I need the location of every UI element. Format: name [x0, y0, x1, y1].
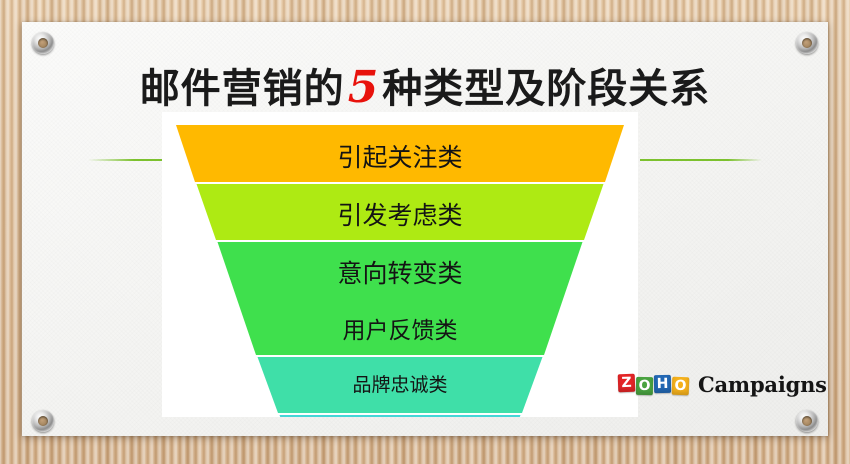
zoho-letter-o2: O	[672, 376, 690, 395]
grommet-bottom-right-icon	[796, 410, 818, 432]
funnel-segment-4	[258, 357, 543, 413]
grommet-top-right-icon	[796, 32, 818, 54]
page-title: 邮件营销的5种类型及阶段关系	[0, 56, 850, 114]
zoho-campaigns-logo: Z O H O Campaigns	[618, 372, 827, 397]
funnel-segment-1	[176, 125, 624, 182]
slide-canvas: 邮件营销的5种类型及阶段关系 引起关注类 引发考虑类 意向转变类 用户反馈类 品…	[0, 0, 850, 464]
title-suffix: 种类型及阶段关系	[382, 66, 710, 112]
title-accent-number: 5	[345, 62, 383, 113]
funnel-chart: 引起关注类 引发考虑类 意向转变类 用户反馈类 品牌忠诚类	[162, 112, 638, 417]
funnel-segment-3	[218, 242, 583, 355]
zoho-letter-h: H	[654, 374, 671, 392]
zoho-letter-z: Z	[618, 373, 636, 392]
grommet-top-left-icon	[32, 32, 54, 54]
title-prefix: 邮件营销的	[140, 66, 345, 112]
funnel-segment-2	[197, 184, 604, 240]
divider-right	[640, 159, 762, 161]
zoho-letter-o1: O	[636, 376, 653, 394]
logo-wordmark: Campaigns	[698, 372, 827, 397]
funnel-segment-5	[280, 415, 521, 417]
zoho-mark-icon: Z O H O	[618, 376, 690, 394]
grommet-bottom-left-icon	[32, 410, 54, 432]
